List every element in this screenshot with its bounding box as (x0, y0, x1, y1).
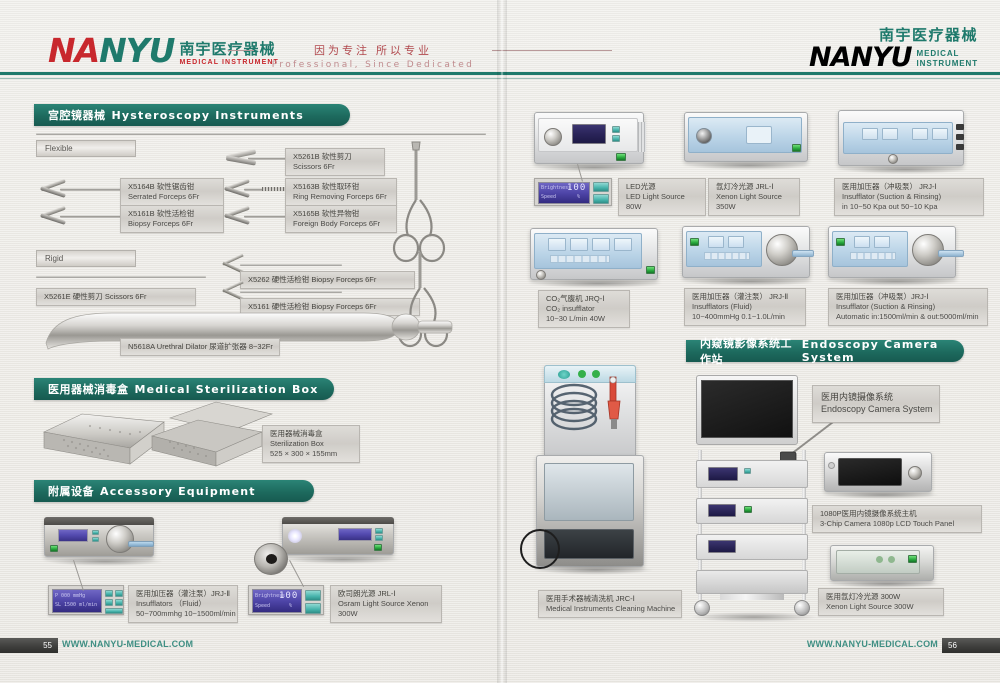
caption-sterilization-box-en: Sterilization Box (270, 439, 352, 449)
slogan-rule-right (492, 50, 612, 51)
brand-wordmark-right-na: NA (809, 42, 851, 73)
device-rear-port-c (956, 144, 964, 150)
device-display-b (882, 128, 898, 140)
section-header-hysteroscopy: 宫腔镜器械 Hysteroscopy Instruments (34, 104, 350, 126)
device-power-button[interactable] (836, 238, 845, 246)
section-header-accessory: 附属设备 Accessory Equipment (34, 480, 314, 502)
device-display-c (592, 238, 610, 251)
cart-indicator-a (558, 370, 570, 379)
callout-button-down[interactable] (115, 590, 123, 597)
callout-button-up[interactable] (105, 590, 113, 597)
section-header-accessory-cn: 附属设备 (48, 483, 94, 499)
machine-shadow (538, 565, 654, 575)
page-number-left-value: 55 (43, 641, 52, 650)
device-front-panel (832, 231, 908, 267)
device-power-button[interactable] (50, 545, 58, 552)
caption-flexible-biopsy-forceps: X5161B 软性活检钳 Biopsy Forceps 6Fr (120, 205, 224, 233)
page-number-right-value: 56 (948, 641, 957, 650)
caption-xenon-300w: 医用氙灯冷光源 300W Xenon Light Source 300W (818, 588, 944, 616)
caption-foreign-body-forceps-cn: X5165B 软性异物钳 (293, 209, 389, 219)
caption-co2-insufflator-cn: CO₂气腹机 JRQ-Ⅰ (546, 294, 622, 304)
caption-led-light-source-en: LED Light Source (626, 192, 698, 202)
device-knob[interactable] (544, 128, 562, 146)
caption-auto-suction-rinsing-spec: Automatic in:1500ml/min & out:5000ml/min (836, 312, 980, 322)
device-display-a (862, 128, 878, 140)
caption-fluid-insufflator-cn: 医用加压器（灌注泵）JRJ-Ⅱ (136, 589, 230, 599)
caption-co2-insufflator: CO₂气腹机 JRQ-Ⅰ CO₂ insufflator 10~30 L/min… (538, 290, 630, 328)
caption-endoscopy-camera-system-en: Endoscopy Camera System (821, 404, 931, 416)
caption-fluid-insufflator-spec: 50~700mmhg 10~1500ml/min (136, 609, 230, 619)
device-display-d (614, 238, 632, 251)
device-tube-connector (938, 250, 964, 257)
caption-osram-light-source: 欧司朗光源 JRL-Ⅰ Osram Light Source Xenon 300… (330, 585, 442, 623)
device-osram-light-source (282, 513, 407, 565)
page-header: NANYU 南宇医疗器械 MEDICAL INSTRUMENT 因为专注 所以专… (0, 0, 1000, 86)
caption-auto-suction-rinsing: 医用加压器（冲吸泵）JRJ-Ⅰ Insufflator (Suction & R… (828, 288, 988, 326)
caption-suction-rinsing-insufflator-en: Insufflator (Suction & Rinsing) (842, 192, 976, 202)
caption-led-light-source-spec: 80W (626, 202, 698, 212)
device-shadow (46, 557, 164, 566)
caption-ring-removing-forceps: X5163B 软性取环钳 Ring Removing Forceps 6Fr (285, 178, 397, 206)
xenon-power-button[interactable] (908, 555, 917, 563)
callout-osram-lcd: Brightness 100 Speed % (248, 585, 324, 615)
device-display-b (728, 236, 744, 248)
sterilization-box-open-svg (150, 400, 275, 470)
trolley-unit-2-display (708, 504, 736, 517)
brand-wordmark: NANYU (48, 34, 174, 67)
brand-tagline-right-l2: INSTRUMENT (917, 59, 978, 69)
caption-xenon-300w-cn: 医用氙灯冷光源 300W (826, 592, 936, 602)
callout-button-up[interactable] (305, 590, 321, 601)
instrument-rigid-biopsy-forceps-b (222, 285, 342, 299)
trolley-base-shelf (696, 570, 808, 594)
device-cleaning-machine (536, 455, 666, 580)
caption-sterilization-box: 医用器械消毒盒 Sterilization Box 525 × 300 × 15… (262, 425, 360, 463)
header-rule-secondary (0, 78, 1000, 79)
trolley-base-bar (720, 594, 784, 600)
cart-spray-gun (596, 375, 630, 431)
device-button-up[interactable] (375, 528, 383, 534)
caption-co2-insufflator-spec: 10~30 L/min 40W (546, 314, 622, 324)
caption-foreign-body-forceps: X5165B 软性异物钳 Foreign Body Forceps 6Fr (285, 205, 397, 233)
device-connector (888, 154, 898, 164)
section-header-sterilization: 医用器械消毒盒 Medical Sterilization Box (34, 378, 334, 400)
caption-cleaning-machine-en: Medical Instruments Cleaning Machine (546, 604, 674, 614)
callout-button-a[interactable] (105, 599, 113, 606)
caption-rigid-scissors: X5261E 硬性剪刀 Scissors 6Fr (36, 288, 196, 306)
callout-button-b[interactable] (115, 599, 123, 606)
instrument-rigid-biopsy-forceps-a (222, 258, 342, 272)
caption-serrated-forceps-en: Serrated Forceps 6Fr (128, 192, 216, 202)
xenon-shadow (832, 580, 942, 588)
caption-ring-removing-forceps-en: Ring Removing Forceps 6Fr (293, 192, 389, 202)
instrument-shaft (240, 291, 342, 293)
caption-led-light-source-cn: LED光源 (626, 182, 698, 192)
callout-fluid-insufflator-lcd: P 000 mmHg SL 1500 ml/min (48, 585, 124, 615)
caption-fluid-insufflator-en: Insufflators （Fluid） (136, 599, 230, 609)
caption-ring-removing-forceps-cn: X5163B 软性取环钳 (293, 182, 389, 192)
device-roller-knob[interactable] (106, 525, 134, 553)
device-fluid-insufflator-jrj2 (682, 226, 822, 288)
tag-flexible: Flexible (36, 140, 136, 157)
ccu-camera-port (908, 466, 922, 480)
device-light-port (696, 128, 712, 144)
machine-door[interactable] (544, 463, 634, 521)
caption-camera-control-unit: 1080P医用内镜摄像系统主机 3-Chip Camera 1080p LCD … (812, 505, 982, 533)
caption-foreign-body-forceps-en: Foreign Body Forceps 6Fr (293, 219, 389, 229)
caption-flexible-scissors-en: Scissors 6Fr (293, 162, 377, 172)
device-front-panel (686, 231, 762, 267)
caption-serrated-forceps: X5164B 软性锯齿钳 Serrated Forceps 6Fr (120, 178, 224, 206)
section-header-endoscopy-camera-en: Endoscopy Camera System (802, 338, 964, 364)
device-power-button[interactable] (374, 544, 382, 551)
caption-xenon-light-source-en: Xenon Light Source (716, 192, 792, 202)
callout-led-lcd: Brightness 100 Speed % (534, 178, 612, 206)
device-lcd (338, 528, 372, 541)
device-display-a (854, 236, 870, 248)
caption-fluid-insufflator-jrj2-en: Insufflators (Fluid) (692, 302, 798, 312)
caption-serrated-forceps-cn: X5164B 软性锯齿钳 (128, 182, 216, 192)
device-suction-rinsing-insufflator (838, 110, 978, 176)
device-button-row[interactable] (850, 252, 896, 260)
device-display-b (874, 236, 890, 248)
device-shadow (532, 279, 664, 288)
device-button-down[interactable] (92, 537, 99, 542)
caption-fluid-insufflator-jrj2-spec: 10~400mmHg 0.1~1.0L/min (692, 312, 798, 322)
device-gas-connector (536, 270, 546, 280)
callout-unit-percent: % (289, 603, 292, 609)
slogan-rule-left (228, 50, 254, 51)
caption-endoscopy-camera-system: 医用内镜摄像系统 Endoscopy Camera System (812, 385, 940, 423)
slogan: 因为专注 所以专业 Professional, Since Dedicated (258, 42, 488, 70)
device-power-button[interactable] (616, 153, 626, 161)
callout-button-down[interactable] (593, 194, 609, 204)
caption-camera-control-unit-cn: 1080P医用内镜摄像系统主机 (820, 509, 974, 519)
caption-led-light-source: LED光源 LED Light Source 80W (618, 178, 706, 216)
flexible-scope-shaft (36, 133, 486, 135)
website-left[interactable]: WWW.NANYU-MEDICAL.COM (62, 639, 193, 649)
device-button-row[interactable] (704, 252, 750, 260)
brand-tagline-right: MEDICAL INSTRUMENT (917, 49, 978, 71)
device-lcd (58, 529, 88, 542)
device-xenon-300w (830, 545, 950, 591)
device-button-down[interactable] (612, 135, 620, 142)
caption-co2-insufflator-en: CO₂ insufflator (546, 304, 622, 314)
caption-flexible-scissors-cn: X5261B 软性剪刀 (293, 152, 377, 162)
device-display (572, 124, 606, 144)
ccu-power-button[interactable] (828, 462, 835, 469)
device-top-bezel (282, 517, 394, 524)
device-shadow (686, 161, 812, 170)
device-display-b (570, 238, 588, 251)
callout-button-enter[interactable] (105, 608, 123, 614)
brand-wordmark-right-row: NANYU MEDICAL INSTRUMENT (809, 44, 978, 71)
device-shadow (840, 165, 970, 174)
callout-button-down[interactable] (305, 603, 321, 614)
caption-fluid-insufflator: 医用加压器（灌注泵）JRJ-Ⅱ Insufflators （Fluid） 50~… (128, 585, 238, 623)
instrument-shaft (240, 264, 342, 266)
callout-label-speed: Speed (541, 194, 556, 200)
trolley-unit-2-power[interactable] (744, 506, 752, 513)
tag-rigid-label: Rigid (45, 254, 63, 263)
caption-endoscopy-camera-system-cn: 医用内镜摄像系统 (821, 392, 931, 404)
device-auto-suction-rinsing (828, 226, 978, 288)
device-fluid-insufflator (44, 513, 169, 565)
adapter-aperture (266, 554, 277, 564)
callout-label-pressure: P 000 mmHg (55, 593, 85, 599)
device-power-button[interactable] (690, 238, 699, 246)
trolley-unit-3-display (708, 540, 736, 553)
instrument-shaft (36, 276, 206, 278)
device-fiber-optic-adapter (254, 543, 290, 577)
caption-osram-light-source-en: Osram Light Source Xenon (338, 599, 434, 609)
section-header-hysteroscopy-cn: 宫腔镜器械 (48, 107, 106, 123)
section-header-endoscopy-camera: 内窥镜影像系统工作站 Endoscopy Camera System (686, 340, 964, 362)
xenon-indicator-b (888, 556, 895, 563)
callout-label-flow: SL 1500 ml/min (55, 602, 97, 608)
brand-logo-right: 南宇医疗器械 NANYU MEDICAL INSTRUMENT (809, 28, 978, 71)
sterilization-box-closed (38, 408, 168, 472)
device-shadow (684, 277, 816, 286)
brand-tagline-right-l1: MEDICAL (917, 49, 978, 59)
caption-osram-light-source-spec: 300W (338, 609, 434, 619)
callout-unit-percent: % (577, 194, 580, 200)
caption-auto-suction-rinsing-en: Insufflator (Suction & Rinsing) (836, 302, 980, 312)
device-shadow (284, 555, 402, 564)
callout-value-brightness: 100 (567, 183, 586, 193)
page-number-left: 55 (0, 638, 58, 653)
device-button-down[interactable] (375, 535, 383, 541)
caption-xenon-300w-en: Xenon Light Source 300W (826, 602, 936, 612)
website-right[interactable]: WWW.NANYU-MEDICAL.COM (807, 639, 938, 649)
device-display-a (548, 238, 566, 251)
brand-wordmark-nyu: NYU (99, 31, 174, 70)
caption-cleaning-machine-cn: 医用手术器械清洗机 JRC-Ⅰ (546, 594, 674, 604)
callout-value-brightness: 100 (279, 591, 298, 601)
caption-xenon-light-source-spec: 350W (716, 202, 792, 212)
cart-indicator-b (578, 370, 586, 378)
caption-suction-rinsing-insufflator-cn: 医用加压器（冲吸泵） JRJ-Ⅰ (842, 182, 976, 192)
device-vent (638, 122, 646, 152)
section-header-endoscopy-camera-cn: 内窥镜影像系统工作站 (700, 335, 796, 367)
trolley-unit-1-button[interactable] (744, 468, 751, 474)
caption-cleaning-machine: 医用手术器械清洗机 JRC-Ⅰ Medical Instruments Clea… (538, 590, 682, 618)
instrument-rigid-scissors (36, 272, 206, 282)
caption-flexible-scissors: X5261B 软性剪刀 Scissors 6Fr (285, 148, 385, 176)
device-rear-port-a (956, 124, 964, 130)
caption-suction-rinsing-insufflator: 医用加压器（冲吸泵） JRJ-Ⅰ Insufflator (Suction & … (834, 178, 984, 216)
trolley-shadow (690, 612, 818, 622)
device-shadow (536, 163, 652, 172)
caption-rigid-scissors-cn: X5261E 硬性剪刀 Scissors 6Fr (44, 292, 188, 302)
device-light-port (288, 529, 302, 543)
catalog-page: NANYU 南宇医疗器械 MEDICAL INSTRUMENT 因为专注 所以专… (0, 0, 1000, 683)
sterilization-box-open (150, 400, 275, 470)
section-header-sterilization-cn: 医用器械消毒盒 (48, 381, 129, 397)
device-camera-control-unit (824, 452, 944, 500)
xenon-indicator-a (876, 556, 883, 563)
caption-fluid-insufflator-jrj2: 医用加压器（灌注泵） JRJ-Ⅱ Insufflators (Fluid) 10… (684, 288, 806, 326)
device-display-c (912, 128, 928, 140)
tag-flexible-label: Flexible (45, 144, 73, 153)
tag-rigid: Rigid (36, 250, 136, 267)
caption-xenon-light-source-cn: 氙灯冷光源 JRL-Ⅰ (716, 182, 792, 192)
device-rear-port-b (956, 134, 964, 140)
page-footer: 55 WWW.NANYU-MEDICAL.COM WWW.NANYU-MEDIC… (0, 631, 1000, 683)
caption-camera-control-unit-en: 3-Chip Camera 1080p LCD Touch Panel (820, 519, 974, 529)
caption-flexible-biopsy-forceps-cn: X5161B 软性活检钳 (128, 209, 216, 219)
caption-osram-light-source-cn: 欧司朗光源 JRL-Ⅰ (338, 589, 434, 599)
device-display-a (708, 236, 724, 248)
device-power-button[interactable] (646, 266, 655, 274)
brand-wordmark-right-nyu: NYU (850, 42, 911, 73)
device-xenon-light-source (684, 112, 814, 174)
device-display-d (932, 128, 948, 140)
device-shadow (830, 277, 962, 286)
page-spine (497, 0, 507, 683)
section-header-hysteroscopy-en: Hysteroscopy Instruments (112, 109, 304, 122)
caption-flexible-biopsy-forceps-en: Biopsy Forceps 6Fr (128, 219, 216, 229)
slogan-en: Professional, Since Dedicated (258, 60, 488, 70)
device-tube-connector (128, 541, 154, 547)
callout-label-speed: Speed (255, 603, 270, 609)
caption-sterilization-box-spec: 525 × 300 × 155mm (270, 449, 352, 459)
caption-urethral-dilator: N5618A Urethral Dilator 尿道扩张器 8~32Fr (120, 338, 280, 356)
section-header-sterilization-en: Medical Sterilization Box (135, 383, 319, 396)
machine-power-cable (520, 529, 560, 569)
device-power-button[interactable] (792, 144, 801, 152)
sterilization-box-closed-svg (38, 408, 168, 472)
brand-wordmark-na: NA (48, 31, 99, 70)
trolley-unit-1-display (708, 467, 738, 481)
caption-fluid-insufflator-jrj2-cn: 医用加压器（灌注泵） JRJ-Ⅱ (692, 292, 798, 302)
ccu-shadow (826, 491, 940, 499)
device-led-light-source (534, 112, 654, 174)
caption-urethral-dilator-cn: N5618A Urethral Dilator 尿道扩张器 8~32Fr (128, 342, 272, 352)
caption-xenon-light-source: 氙灯冷光源 JRL-Ⅰ Xenon Light Source 350W (708, 178, 800, 216)
device-equipment-trolley (690, 450, 818, 620)
device-top-bezel (44, 517, 154, 525)
caption-auto-suction-rinsing-cn: 医用加压器（冲吸泵）JRJ-Ⅰ (836, 292, 980, 302)
device-co2-insufflator (530, 228, 670, 290)
device-button-row[interactable] (550, 255, 610, 263)
device-tube-connector (792, 250, 814, 257)
page-number-right: 56 (942, 638, 1000, 653)
callout-button-up[interactable] (593, 182, 609, 192)
brand-wordmark-right: NANYU (809, 44, 912, 71)
device-control-group (746, 126, 772, 144)
slogan-cn: 因为专注 所以专业 (258, 42, 488, 58)
caption-suction-rinsing-insufflator-spec: in 10~50 Kpa out 50~10 Kpa (842, 202, 976, 212)
ccu-touch-panel[interactable] (838, 458, 902, 486)
section-header-accessory-en: Accessory Equipment (100, 485, 256, 498)
caption-sterilization-box-cn: 医用器械消毒盒 (270, 429, 352, 439)
device-button-up[interactable] (612, 126, 620, 133)
device-button-up[interactable] (92, 530, 99, 535)
